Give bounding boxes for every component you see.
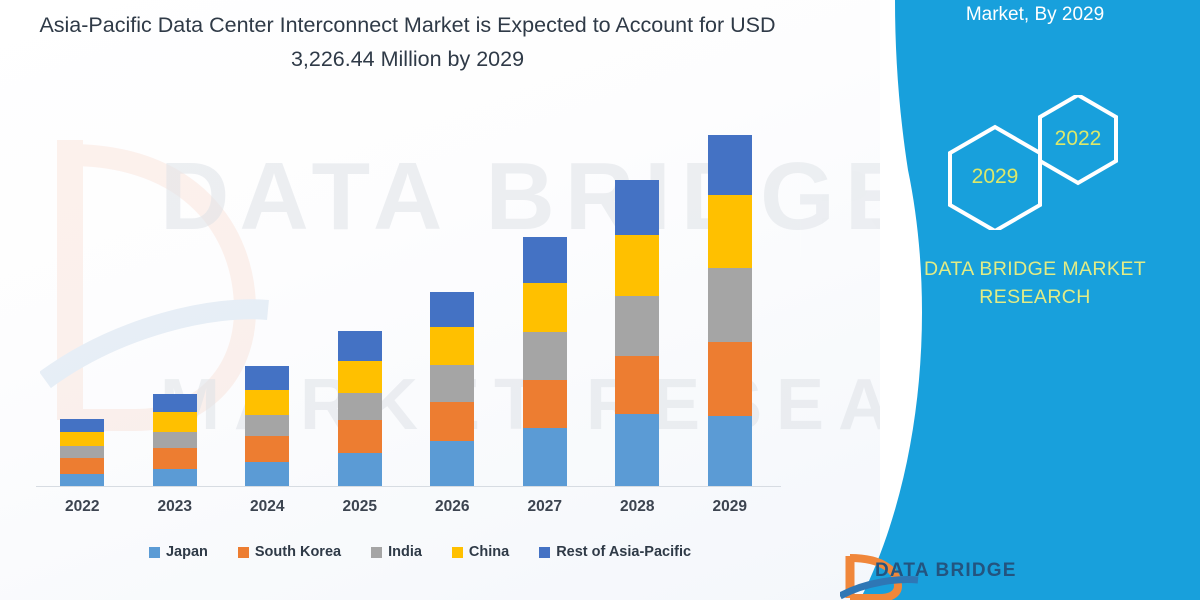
legend-swatch-icon xyxy=(238,547,249,558)
bar-group[interactable] xyxy=(430,292,474,486)
bar-segment[interactable] xyxy=(153,469,197,486)
bar-segment[interactable] xyxy=(523,332,567,380)
x-axis-tick: 2023 xyxy=(135,498,215,516)
bar-segment[interactable] xyxy=(523,428,567,486)
bar-group[interactable] xyxy=(245,366,289,486)
bar-segment[interactable] xyxy=(245,390,289,415)
bar-segment[interactable] xyxy=(338,393,382,420)
chart-legend: JapanSouth KoreaIndiaChinaRest of Asia-P… xyxy=(60,540,780,564)
bar-segment[interactable] xyxy=(153,394,197,412)
bar-segment[interactable] xyxy=(615,414,659,486)
brand-name: DATA BRIDGE MARKET RESEARCH xyxy=(880,255,1190,311)
bar-segment[interactable] xyxy=(338,420,382,453)
legend-item[interactable]: South Korea xyxy=(238,544,341,560)
bar-group[interactable] xyxy=(615,180,659,486)
bar-segment[interactable] xyxy=(338,453,382,486)
legend-item[interactable]: India xyxy=(371,544,422,560)
bar-segment[interactable] xyxy=(60,458,104,474)
chart-panel: DATA BRIDGE MARKET RESEARCH Asia-Pacific… xyxy=(0,0,880,600)
bar-segment[interactable] xyxy=(153,412,197,432)
bar-segment[interactable] xyxy=(708,135,752,195)
bar-segment[interactable] xyxy=(60,446,104,458)
legend-item[interactable]: Rest of Asia-Pacific xyxy=(539,544,691,560)
bar-segment[interactable] xyxy=(60,419,104,432)
bar-segment[interactable] xyxy=(708,195,752,268)
bar-segment[interactable] xyxy=(708,268,752,342)
bar-segment[interactable] xyxy=(523,283,567,332)
x-axis-tick: 2025 xyxy=(320,498,400,516)
hexagon-badges: 2022 2029 xyxy=(910,95,1190,230)
bar-segment[interactable] xyxy=(523,237,567,283)
brand-subtitle: Market, By 2029 xyxy=(880,0,1190,30)
x-axis-tick: 2028 xyxy=(597,498,677,516)
x-axis-tick: 2022 xyxy=(42,498,122,516)
bar-segment[interactable] xyxy=(153,432,197,448)
bar-segment[interactable] xyxy=(245,415,289,436)
bar-segment[interactable] xyxy=(245,366,289,390)
bar-segment[interactable] xyxy=(615,296,659,356)
legend-label: South Korea xyxy=(255,544,341,560)
bar-segment[interactable] xyxy=(245,436,289,462)
brand-name-line-2: RESEARCH xyxy=(880,283,1190,311)
bar-chart-plot xyxy=(36,110,776,486)
legend-item[interactable]: China xyxy=(452,544,509,560)
bar-segment[interactable] xyxy=(430,441,474,486)
bar-group[interactable] xyxy=(523,237,567,486)
legend-swatch-icon xyxy=(371,547,382,558)
x-axis-tick: 2026 xyxy=(412,498,492,516)
legend-label: Japan xyxy=(166,544,208,560)
bar-segment[interactable] xyxy=(708,416,752,486)
legend-item[interactable]: Japan xyxy=(149,544,208,560)
bar-segment[interactable] xyxy=(615,180,659,235)
bar-segment[interactable] xyxy=(245,462,289,486)
bar-segment[interactable] xyxy=(523,380,567,428)
legend-swatch-icon xyxy=(149,547,160,558)
bar-segment[interactable] xyxy=(615,356,659,414)
legend-swatch-icon xyxy=(539,547,550,558)
bar-group[interactable] xyxy=(338,331,382,486)
legend-swatch-icon xyxy=(452,547,463,558)
axis-baseline xyxy=(36,486,781,487)
bar-segment[interactable] xyxy=(338,331,382,361)
bar-segment[interactable] xyxy=(430,402,474,441)
legend-label: Rest of Asia-Pacific xyxy=(556,544,691,560)
hex-label-2029: 2029 xyxy=(965,165,1025,189)
hex-label-2022: 2022 xyxy=(1048,127,1108,151)
x-axis-labels: 20222023202420252026202720282029 xyxy=(36,494,776,524)
bar-segment[interactable] xyxy=(430,327,474,365)
logo-text: DATA BRIDGE xyxy=(875,560,1017,582)
hexagon-shapes xyxy=(910,95,1190,230)
legend-label: India xyxy=(388,544,422,560)
x-axis-tick: 2027 xyxy=(505,498,585,516)
bar-segment[interactable] xyxy=(60,432,104,446)
bar-group[interactable] xyxy=(60,419,104,486)
brand-name-line-1: DATA BRIDGE MARKET xyxy=(880,255,1190,283)
bar-group[interactable] xyxy=(153,394,197,486)
bar-segment[interactable] xyxy=(430,365,474,402)
legend-label: China xyxy=(469,544,509,560)
bar-segment[interactable] xyxy=(708,342,752,416)
bar-group[interactable] xyxy=(708,135,752,486)
bar-segment[interactable] xyxy=(60,474,104,486)
x-axis-tick: 2024 xyxy=(227,498,307,516)
brand-panel: R Market, By 2029 2022 2029 DATA BRIDGE … xyxy=(800,0,1200,600)
bar-segment[interactable] xyxy=(430,292,474,327)
bar-segment[interactable] xyxy=(615,235,659,296)
bar-segment[interactable] xyxy=(338,361,382,393)
page-title: Asia-Pacific Data Center Interconnect Ma… xyxy=(35,8,780,76)
x-axis-tick: 2029 xyxy=(690,498,770,516)
bar-segment[interactable] xyxy=(153,448,197,469)
